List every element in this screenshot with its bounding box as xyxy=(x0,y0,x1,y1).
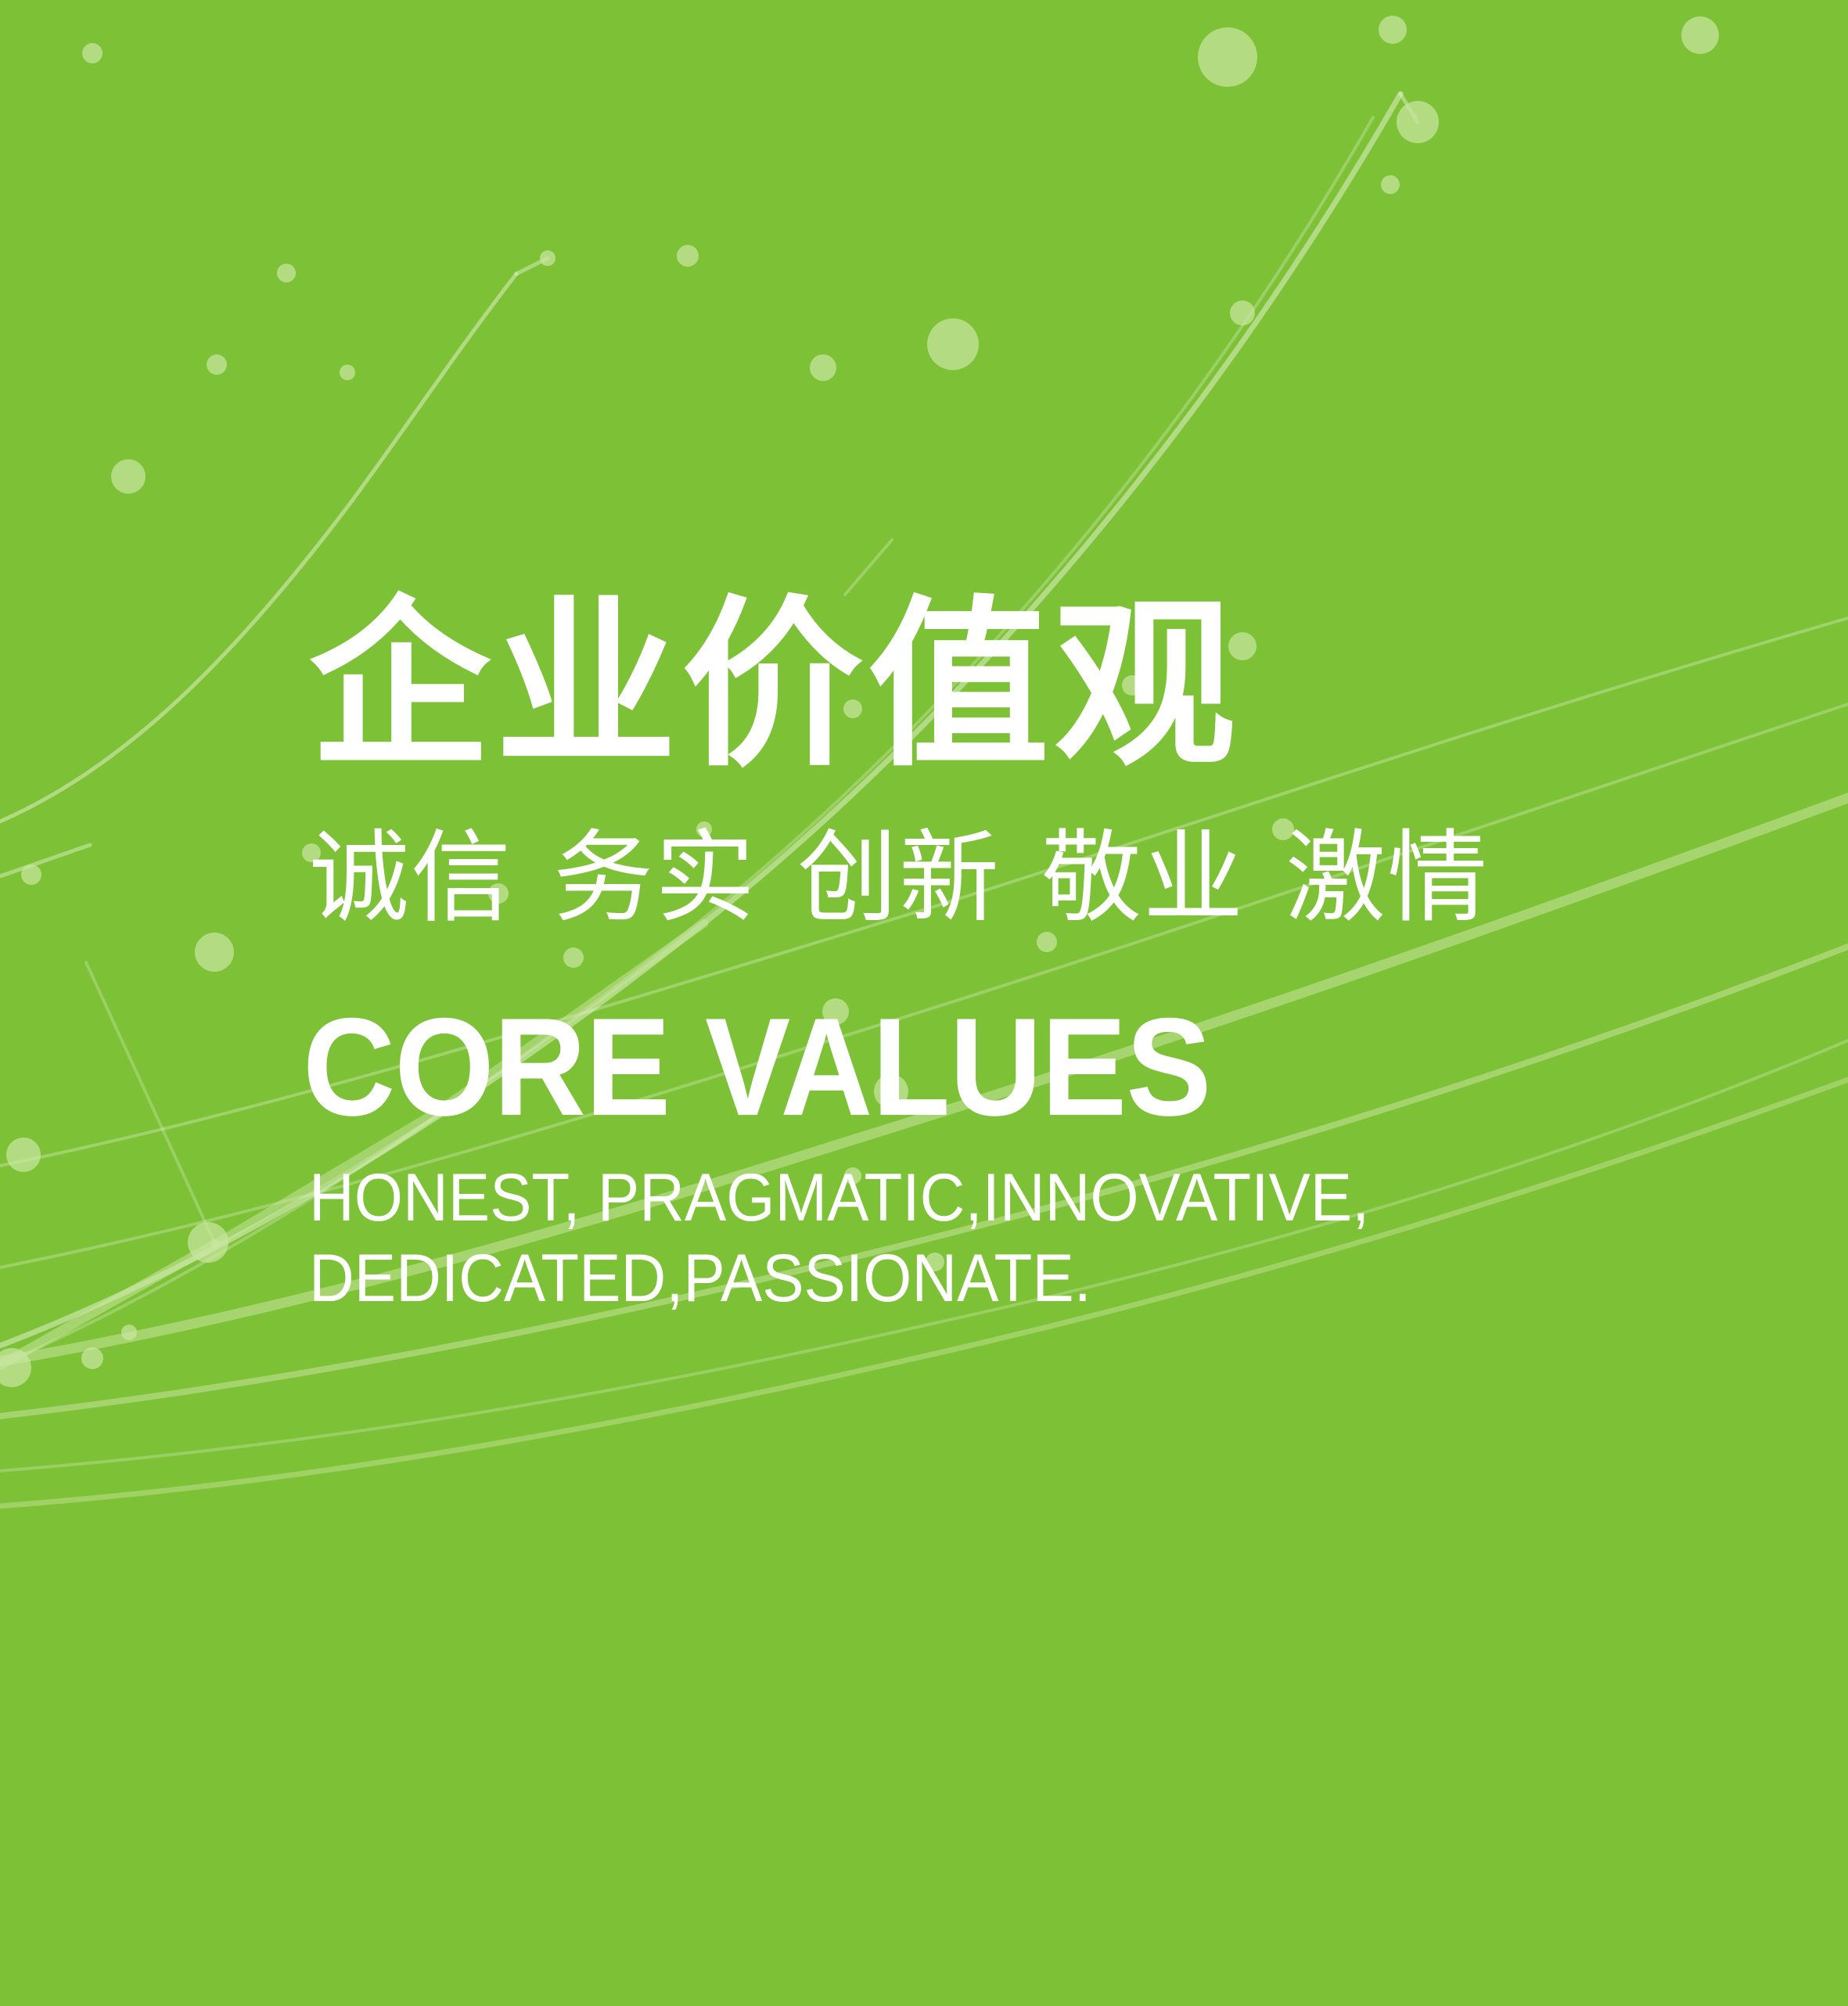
chinese-values-line: 诚信务实创新敬业激情 xyxy=(309,828,1639,929)
chinese-title: 企业价值观 xyxy=(309,595,1639,776)
english-body-line-2: DEDICATED,PASSIONATE. xyxy=(309,1238,1546,1319)
chinese-value-5: 激情 xyxy=(1285,820,1489,936)
english-title: CORE VALUES xyxy=(303,997,1532,1138)
poster-text-block: 企业价值观 诚信务实创新敬业激情 CORE VALUES HONEST, PRA… xyxy=(309,595,1639,1319)
chinese-value-2: 务实 xyxy=(553,820,757,936)
english-body-line-1: HONEST, PRAGMATIC,INNOVATIVE, xyxy=(309,1158,1546,1238)
chinese-value-3: 创新 xyxy=(797,820,1001,936)
chinese-value-4: 敬业 xyxy=(1041,820,1245,936)
chinese-value-1: 诚信 xyxy=(309,820,512,936)
poster-canvas: 企业价值观 诚信务实创新敬业激情 CORE VALUES HONEST, PRA… xyxy=(0,0,1848,2006)
english-body: HONEST, PRAGMATIC,INNOVATIVE, DEDICATED,… xyxy=(309,1158,1546,1319)
